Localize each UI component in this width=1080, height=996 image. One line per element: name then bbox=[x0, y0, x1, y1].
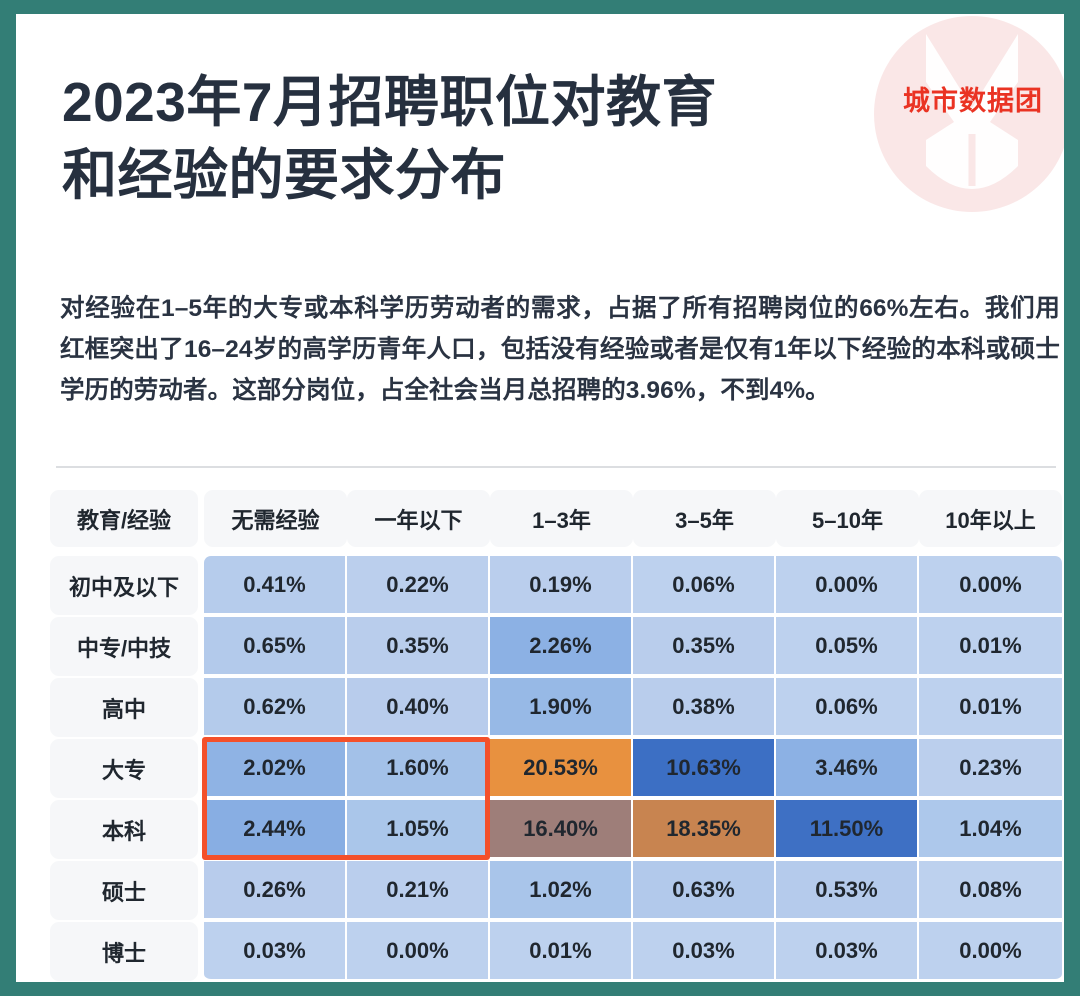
column-header-5: 10年以上 bbox=[919, 490, 1062, 547]
heatmap-cell: 0.38% bbox=[633, 678, 776, 737]
heatmap-cell: 0.26% bbox=[204, 861, 347, 920]
heatmap-cell: 0.22% bbox=[347, 556, 490, 615]
row-header-label: 硕士 bbox=[50, 861, 198, 920]
heatmap-table-wrapper: 教育/经验 无需经验 一年以下 1–3年 3–5年 5–10年 10年以上 初中… bbox=[50, 490, 1056, 981]
heatmap-cell: 0.08% bbox=[919, 861, 1062, 920]
heatmap-cell: 0.03% bbox=[776, 922, 919, 981]
heatmap-cell: 0.35% bbox=[347, 617, 490, 676]
row-header-label: 本科 bbox=[50, 800, 198, 859]
heatmap-cell: 0.41% bbox=[204, 556, 347, 615]
heatmap-cell: 0.00% bbox=[919, 556, 1062, 615]
heatmap-cell: 0.63% bbox=[633, 861, 776, 920]
heatmap-table: 教育/经验 无需经验 一年以下 1–3年 3–5年 5–10年 10年以上 初中… bbox=[50, 490, 1062, 981]
summary-paragraph: 对经验在1–5年的大专或本科学历劳动者的需求，占据了所有招聘岗位的66%左右。我… bbox=[60, 288, 1060, 411]
heatmap-cell: 0.23% bbox=[919, 739, 1062, 798]
heatmap-cell: 0.06% bbox=[776, 678, 919, 737]
heatmap-cell: 20.53% bbox=[490, 739, 633, 798]
table-row: 大专2.02%1.60%20.53%10.63%3.46%0.23% bbox=[50, 739, 1062, 798]
heatmap-cell: 2.26% bbox=[490, 617, 633, 676]
heatmap-cell: 1.05% bbox=[347, 800, 490, 859]
column-header-2: 1–3年 bbox=[490, 490, 633, 547]
heatmap-cell: 0.00% bbox=[919, 922, 1062, 981]
column-header-4: 5–10年 bbox=[776, 490, 919, 547]
heatmap-cell: 1.02% bbox=[490, 861, 633, 920]
table-body: 初中及以下0.41%0.22%0.19%0.06%0.00%0.00%中专/中技… bbox=[50, 556, 1062, 981]
heatmap-cell: 1.04% bbox=[919, 800, 1062, 859]
page-title: 2023年7月招聘职位对教育 和经验的要求分布 bbox=[62, 66, 912, 211]
heatmap-cell: 0.03% bbox=[204, 922, 347, 981]
heatmap-cell: 2.44% bbox=[204, 800, 347, 859]
heatmap-cell: 16.40% bbox=[490, 800, 633, 859]
section-divider bbox=[56, 466, 1056, 468]
row-header-label: 初中及以下 bbox=[50, 556, 198, 615]
heatmap-cell: 1.90% bbox=[490, 678, 633, 737]
heatmap-cell: 2.02% bbox=[204, 739, 347, 798]
heatmap-cell: 0.19% bbox=[490, 556, 633, 615]
row-header-label: 大专 bbox=[50, 739, 198, 798]
heatmap-cell: 0.01% bbox=[490, 922, 633, 981]
table-row: 初中及以下0.41%0.22%0.19%0.06%0.00%0.00% bbox=[50, 556, 1062, 615]
heatmap-cell: 0.21% bbox=[347, 861, 490, 920]
table-head: 教育/经验 无需经验 一年以下 1–3年 3–5年 5–10年 10年以上 bbox=[50, 490, 1062, 556]
heatmap-cell: 3.46% bbox=[776, 739, 919, 798]
header-gap-row bbox=[50, 547, 1062, 556]
column-header-1: 一年以下 bbox=[347, 490, 490, 547]
table-row: 本科2.44%1.05%16.40%18.35%11.50%1.04% bbox=[50, 800, 1062, 859]
heatmap-cell: 11.50% bbox=[776, 800, 919, 859]
heatmap-cell: 0.05% bbox=[776, 617, 919, 676]
heatmap-cell: 18.35% bbox=[633, 800, 776, 859]
heatmap-cell: 0.35% bbox=[633, 617, 776, 676]
header-gap-cell bbox=[50, 547, 1062, 556]
heatmap-cell: 0.40% bbox=[347, 678, 490, 737]
heatmap-cell: 0.53% bbox=[776, 861, 919, 920]
heatmap-cell: 0.65% bbox=[204, 617, 347, 676]
heatmap-cell: 0.01% bbox=[919, 678, 1062, 737]
heatmap-cell: 0.03% bbox=[633, 922, 776, 981]
table-row: 高中0.62%0.40%1.90%0.38%0.06%0.01% bbox=[50, 678, 1062, 737]
row-header-label: 高中 bbox=[50, 678, 198, 737]
heatmap-cell: 0.00% bbox=[776, 556, 919, 615]
table-header-row: 教育/经验 无需经验 一年以下 1–3年 3–5年 5–10年 10年以上 bbox=[50, 490, 1062, 547]
heatmap-cell: 0.62% bbox=[204, 678, 347, 737]
table-row: 中专/中技0.65%0.35%2.26%0.35%0.05%0.01% bbox=[50, 617, 1062, 676]
row-header-label: 博士 bbox=[50, 922, 198, 981]
table-row: 博士0.03%0.00%0.01%0.03%0.03%0.00% bbox=[50, 922, 1062, 981]
page-title-line-2: 和经验的要求分布 bbox=[62, 139, 912, 212]
heatmap-cell: 0.00% bbox=[347, 922, 490, 981]
heatmap-cell: 0.01% bbox=[919, 617, 1062, 676]
column-header-0: 无需经验 bbox=[204, 490, 347, 547]
row-header-label: 中专/中技 bbox=[50, 617, 198, 676]
table-row: 硕士0.26%0.21%1.02%0.63%0.53%0.08% bbox=[50, 861, 1062, 920]
heatmap-cell: 0.06% bbox=[633, 556, 776, 615]
heatmap-cell: 1.60% bbox=[347, 739, 490, 798]
page-title-line-1: 2023年7月招聘职位对教育 bbox=[62, 66, 912, 139]
poster-card: 城市数据团 2023年7月招聘职位对教育 和经验的要求分布 对经验在1–5年的大… bbox=[16, 14, 1064, 982]
header-corner-label: 教育/经验 bbox=[50, 490, 198, 547]
column-header-3: 3–5年 bbox=[633, 490, 776, 547]
heatmap-cell: 10.63% bbox=[633, 739, 776, 798]
